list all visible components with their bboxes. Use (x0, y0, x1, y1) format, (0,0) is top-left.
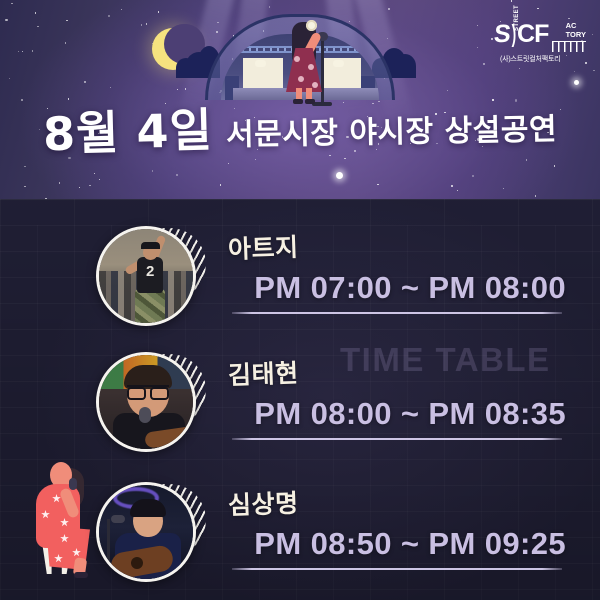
performance-time: PM 08:00 ~ PM 08:35 (228, 396, 570, 432)
avatar (96, 352, 196, 452)
poster-title: 8월 4일 서문시장 야시장 상설공연 (0, 96, 600, 162)
timetable-row[interactable]: 2 아트지 PM 07:00 ~ PM 08:00 (0, 222, 600, 340)
artist-name: 김태현 (227, 344, 570, 392)
artist-photo-dancer: 2 (99, 229, 193, 323)
page-title-date: 8월 4일 (42, 94, 213, 164)
timetable-row[interactable]: 김태현 PM 08:00 ~ PM 08:35 (0, 348, 600, 466)
bush-icon (176, 58, 196, 78)
poster-root: S)CF STREET AC TORY (사)스트릿컬처팩토리 8월 4일 서문… (0, 0, 600, 600)
row-info: 아트지 PM 07:00 ~ PM 08:00 (228, 230, 570, 314)
avatar-wrap (96, 482, 204, 590)
stage-light-icon (333, 60, 344, 67)
row-divider (232, 312, 562, 314)
row-divider (232, 438, 562, 440)
header-night-sky: S)CF STREET AC TORY (사)스트릿컬처팩토리 8월 4일 서문… (0, 0, 600, 199)
logo-korean-name: (사)스트릿컬처팩토리 (500, 54, 560, 64)
avatar-wrap: 2 (96, 226, 204, 334)
artist-name: 아트지 (227, 218, 570, 266)
performance-time: PM 08:50 ~ PM 09:25 (228, 526, 570, 562)
avatar-wrap (96, 352, 204, 460)
bright-star-icon (574, 80, 579, 85)
logo-letters-cf: CF (517, 20, 548, 48)
logo-ac-tory: AC TORY (566, 22, 586, 39)
artist-photo-guitarist (99, 485, 193, 579)
bush-icon (394, 54, 416, 78)
mic-stand-icon (321, 36, 324, 104)
timetable-row[interactable]: 심상명 PM 08:50 ~ PM 09:25 (0, 478, 600, 596)
street-culture-factory-logo: S)CF STREET AC TORY (사)스트릿컬처팩토리 (494, 22, 586, 66)
logo-tory: TORY (566, 31, 586, 40)
logo-letter-s: S (493, 22, 511, 47)
row-info: 김태현 PM 08:00 ~ PM 08:35 (228, 356, 570, 440)
performance-time: PM 07:00 ~ PM 08:00 (228, 270, 570, 306)
logo-vertical-street: STREET (514, 5, 520, 31)
singer-illustration (278, 18, 330, 104)
avatar: 2 (96, 226, 196, 326)
flower-icon (306, 20, 317, 31)
artist-name: 심상명 (227, 474, 570, 522)
avatar (96, 482, 196, 582)
bright-star-icon (336, 172, 343, 179)
page-title-subtitle: 서문시장 야시장 상설공연 (226, 104, 558, 154)
stage-light-icon (255, 60, 266, 67)
row-divider (232, 568, 562, 570)
logo-wave-icon (552, 41, 586, 52)
artist-photo-singer-glasses (99, 355, 193, 449)
row-info: 심상명 PM 08:50 ~ PM 09:25 (228, 486, 570, 570)
